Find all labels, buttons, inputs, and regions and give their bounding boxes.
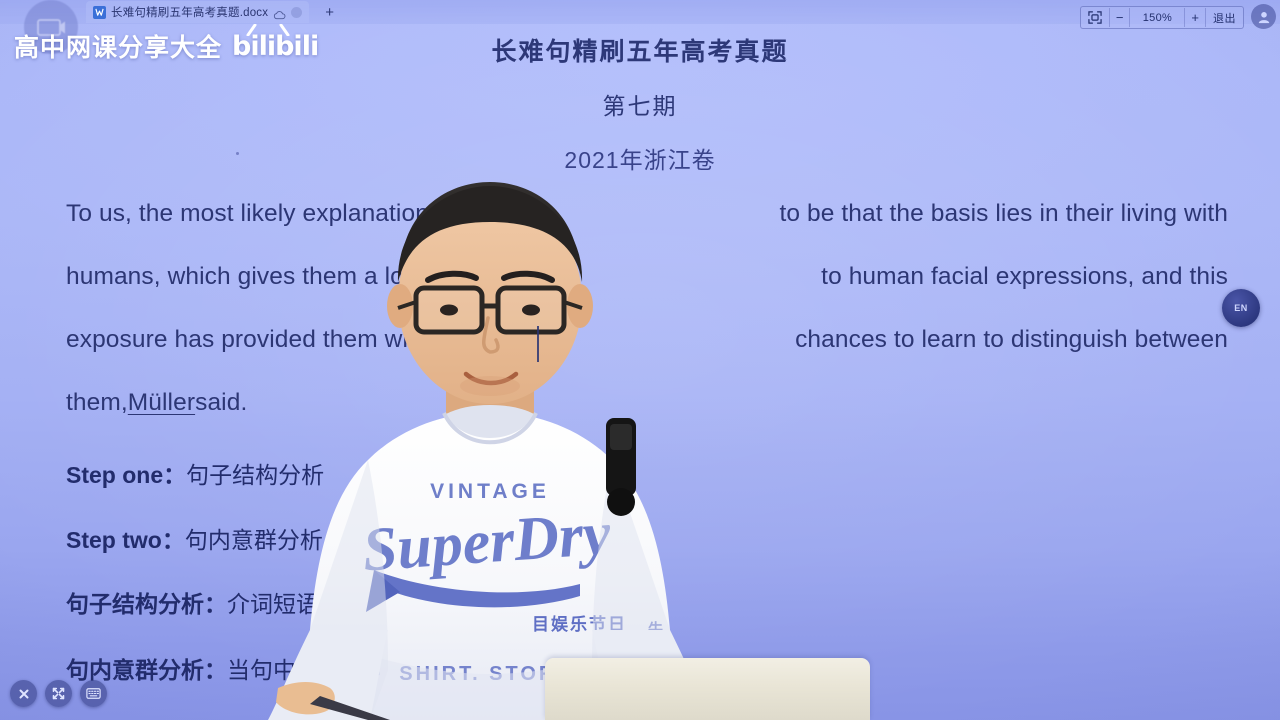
cloud-sync-icon — [273, 7, 286, 17]
text-caret — [537, 326, 539, 362]
proper-noun-muller: Müller — [128, 389, 195, 417]
close-button[interactable] — [10, 680, 37, 707]
tab-close-icon[interactable] — [291, 7, 302, 18]
fit-to-screen-icon[interactable] — [1081, 8, 1110, 27]
step-line: Step one：句子结构分析 — [66, 456, 324, 521]
slide-subtitle: 第七期 — [0, 87, 1280, 121]
paragraph-line-4-prefix: them, — [66, 389, 128, 417]
paragraph-line-2a: humans, which gives them a lot of exposu… — [66, 263, 547, 291]
document-tab[interactable]: 长难句精刷五年高考真题.docx — [86, 1, 309, 23]
step-two-label: Step two： — [66, 527, 185, 553]
paragraph-line: exposure has provided them with many cha… — [66, 326, 1228, 389]
floating-toolbar — [10, 680, 107, 707]
step-one-label: Step one： — [66, 462, 186, 488]
expand-arrows-icon — [52, 687, 65, 700]
analysis-line: 句子结构分析：介词短语＋主句 — [66, 585, 411, 651]
slide-content: 长难句精刷五年高考真题 第七期 2021年浙江卷 To us, the most… — [0, 0, 1280, 720]
paragraph-block: To us, the most likely explanation seems… — [66, 200, 1228, 452]
step-line: Step two：句内意群分析 — [66, 521, 324, 586]
analysis-sense-group-text: 当句中出现介词所 — [227, 657, 411, 683]
new-tab-button[interactable]: + — [325, 5, 334, 20]
analysis-block: 句子结构分析：介词短语＋主句 句内意群分析：当句中出现介词所 — [66, 585, 411, 717]
step-one-text: 句子结构分析 — [186, 462, 324, 488]
analysis-structure-label: 句子结构分析： — [66, 591, 227, 617]
exit-button[interactable]: 退出 — [1206, 8, 1243, 27]
laptop-lid — [545, 658, 870, 720]
bilibili-ears-icon — [245, 24, 291, 36]
analysis-structure-text: 介词短语＋主句 — [227, 591, 388, 617]
step-two-text: 句内意群分析 — [185, 527, 323, 553]
document-tab-title: 长难句精刷五年高考真题.docx — [111, 4, 268, 20]
analysis-line: 句内意群分析：当句中出现介词所 — [66, 651, 411, 717]
user-avatar-icon[interactable] — [1251, 4, 1276, 29]
paragraph-line: them, Müller said. — [66, 389, 1228, 452]
keyboard-button[interactable] — [80, 680, 107, 707]
fullscreen-button[interactable] — [45, 680, 72, 707]
zoom-in-button[interactable]: + — [1185, 8, 1206, 27]
wps-writer-icon — [93, 6, 106, 19]
paragraph-line-1a: To us, the most likely explanation seems — [66, 200, 509, 228]
watermark-text: 高中网课分享大全 — [14, 28, 222, 64]
paragraph-line-3b: chances to learn to distinguish between — [795, 326, 1228, 354]
keyboard-icon — [86, 688, 101, 699]
channel-watermark: 高中网课分享大全 bilibili — [14, 28, 318, 64]
ime-language-label: EN — [1234, 303, 1248, 313]
paragraph-line: humans, which gives them a lot of exposu… — [66, 263, 1228, 326]
paragraph-line-1b: to be that the basis lies in their livin… — [779, 200, 1228, 228]
paragraph-line-2b: to human facial expressions, and this — [821, 263, 1228, 291]
paragraph-line: To us, the most likely explanation seems… — [66, 200, 1228, 263]
paragraph-line-3a: exposure has provided them with many — [66, 326, 496, 354]
zoom-level-display[interactable]: 150% — [1130, 8, 1185, 27]
close-icon — [18, 688, 30, 700]
ime-language-icon[interactable]: EN — [1222, 289, 1260, 327]
slide-source: 2021年浙江卷 — [0, 141, 1280, 175]
steps-block: Step one：句子结构分析 Step two：句内意群分析 — [66, 456, 324, 586]
cursor-dot — [236, 152, 239, 155]
zoom-out-button[interactable]: − — [1110, 8, 1131, 27]
paragraph-line-4-suffix: said. — [195, 389, 247, 417]
bilibili-logo: bilibili — [232, 31, 318, 62]
video-player-frame: 长难句精刷五年高考真题 第七期 2021年浙江卷 To us, the most… — [0, 0, 1280, 720]
zoom-toolbar: − 150% + 退出 — [1080, 6, 1244, 29]
